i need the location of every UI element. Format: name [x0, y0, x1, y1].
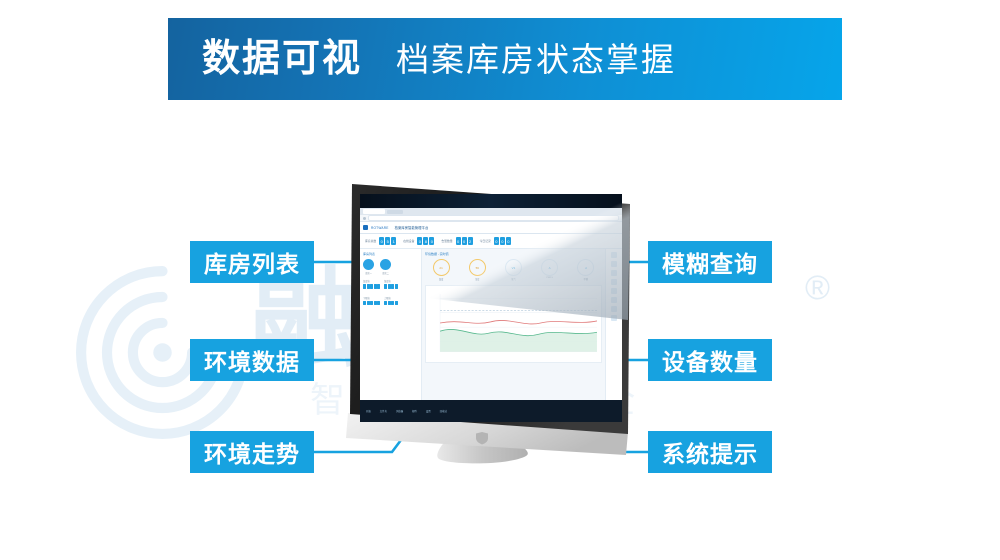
callout-system-notice[interactable]: 系统提示 — [648, 431, 772, 473]
taskbar-item[interactable]: 邮件 — [412, 409, 417, 413]
callout-environment-data[interactable]: 环境数据 — [190, 339, 314, 381]
taskbar-item[interactable]: 文件夹 — [380, 409, 387, 413]
monitor: ROTWARE 档案库房智能管理平台 库房总数 0 5 1 在线设备 — [330, 170, 640, 470]
callout-label: 设备数量 — [662, 343, 758, 377]
callout-device-count[interactable]: 设备数量 — [648, 339, 772, 381]
taskbar[interactable]: 开始 文件夹 浏览器 邮件 设置 回收站 — [360, 400, 622, 422]
taskbar-item[interactable]: 浏览器 — [396, 409, 403, 413]
taskbar-item[interactable]: 开始 — [366, 409, 371, 413]
taskbar-item[interactable]: 回收站 — [440, 409, 447, 413]
monitor-stand: ROTWARE 档案库房智能管理平台 库房总数 0 5 1 在线设备 — [330, 170, 640, 470]
callout-label: 系统提示 — [662, 435, 758, 469]
callout-label: 环境数据 — [204, 343, 300, 377]
callout-label: 库房列表 — [204, 245, 300, 279]
callout-label: 模糊查询 — [662, 245, 758, 279]
callout-warehouse-list[interactable]: 库房列表 — [190, 241, 314, 283]
mini-digits — [363, 301, 380, 306]
mini-metric: 下限值 — [363, 296, 380, 306]
mini-metric: 上限值 — [384, 296, 398, 306]
callout-environment-trend[interactable]: 环境走势 — [190, 431, 314, 473]
callout-label: 环境走势 — [204, 435, 300, 469]
callout-fuzzy-search[interactable]: 模糊查询 — [648, 241, 772, 283]
poster-stage: 融安特 ® 智 致 安 全 数据可视 档案库房状态掌握 — [0, 0, 1000, 560]
mini-label: 下限值 — [363, 296, 380, 300]
taskbar-item[interactable]: 设置 — [426, 409, 431, 413]
mini-label: 上限值 — [384, 296, 398, 300]
mini-digits — [384, 301, 398, 306]
